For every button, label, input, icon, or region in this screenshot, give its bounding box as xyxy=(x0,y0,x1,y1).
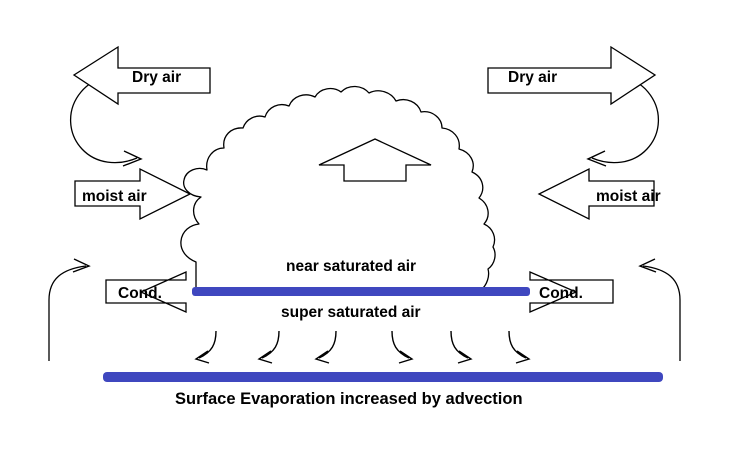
moist-air-right-label: moist air xyxy=(596,188,661,205)
near-saturated-air-label: near saturated air xyxy=(286,258,416,275)
circulation-bottom-left xyxy=(49,259,89,361)
evaporation-arrow xyxy=(509,331,529,363)
cond-right-label: Cond. xyxy=(539,285,583,302)
circulation-bottom-right xyxy=(640,259,680,361)
moist-air-arrow-right: moist air xyxy=(539,169,661,219)
diagram-canvas: Cloud advection and saturation schematic xyxy=(0,0,729,467)
dry-air-right-label: Dry air xyxy=(508,69,557,86)
evaporation-arrows-left xyxy=(196,331,336,363)
dry-air-arrow-right: Dry air xyxy=(488,47,655,104)
cloud-advection-diagram: Cloud advection and saturation schematic xyxy=(0,0,729,467)
surface-bar xyxy=(103,372,663,382)
cond-arrow-right: Cond. xyxy=(530,272,613,312)
moist-air-arrow-left: moist air xyxy=(75,169,190,219)
evaporation-arrows-right xyxy=(392,331,529,363)
evaporation-arrow xyxy=(196,331,216,363)
cloud-base-bar xyxy=(192,287,530,296)
evaporation-arrow xyxy=(316,331,336,363)
super-saturated-air-label: super saturated air xyxy=(281,304,421,321)
evaporation-arrow xyxy=(392,331,412,363)
evaporation-arrow xyxy=(259,331,279,363)
moist-air-left-label: moist air xyxy=(82,188,147,205)
dry-air-left-label: Dry air xyxy=(132,69,181,86)
surface-evaporation-label: Surface Evaporation increased by advecti… xyxy=(175,390,523,408)
dry-air-arrow-left: Dry air xyxy=(74,47,210,104)
evaporation-arrow xyxy=(451,331,471,363)
cond-arrow-left: Cond. xyxy=(106,272,186,312)
cond-left-label: Cond. xyxy=(118,285,162,302)
